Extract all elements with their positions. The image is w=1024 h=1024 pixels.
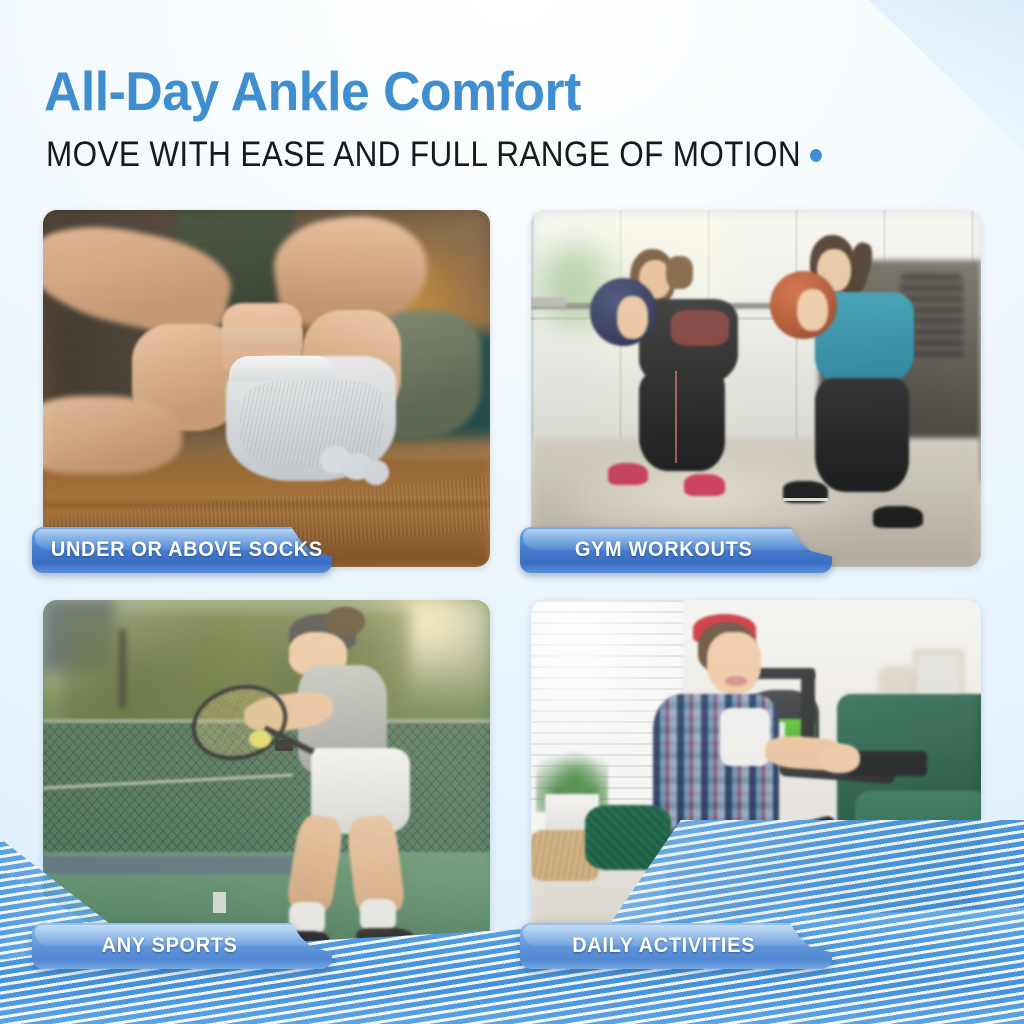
photo-daily-activities <box>531 600 981 960</box>
bullet-dot-icon <box>810 149 822 162</box>
badge-label: GYM WORKOUTS <box>528 527 824 573</box>
photo-under-or-above-socks <box>43 210 490 567</box>
photo-any-sports <box>43 600 490 960</box>
badge-under-or-above-socks[interactable]: UNDER OR ABOVE SOCKS <box>32 527 332 573</box>
feature-tile-gym-workouts[interactable] <box>531 210 981 567</box>
feature-tile-daily-activities[interactable] <box>531 600 981 960</box>
page-title: All-Day Ankle Comfort <box>44 62 581 120</box>
badge-label: ANY SPORTS <box>40 923 325 969</box>
badge-gym-workouts[interactable]: GYM WORKOUTS <box>520 527 832 573</box>
feature-tile-under-or-above-socks[interactable] <box>43 210 490 567</box>
badge-any-sports[interactable]: ANY SPORTS <box>32 923 332 969</box>
badge-label: DAILY ACTIVITIES <box>528 923 824 969</box>
feature-tile-any-sports[interactable] <box>43 600 490 960</box>
photo-gym-workouts <box>531 210 981 567</box>
badge-daily-activities[interactable]: DAILY ACTIVITIES <box>520 923 832 969</box>
page-subtitle: MOVE WITH EASE AND FULL RANGE OF MOTION <box>46 135 822 175</box>
page-subtitle-text: MOVE WITH EASE AND FULL RANGE OF MOTION <box>46 135 801 174</box>
badge-label: UNDER OR ABOVE SOCKS <box>40 527 325 573</box>
banner-canvas: UNDER OR ABOVE SOCKS GYM WORKOUTS ANY SP… <box>0 0 1024 1024</box>
